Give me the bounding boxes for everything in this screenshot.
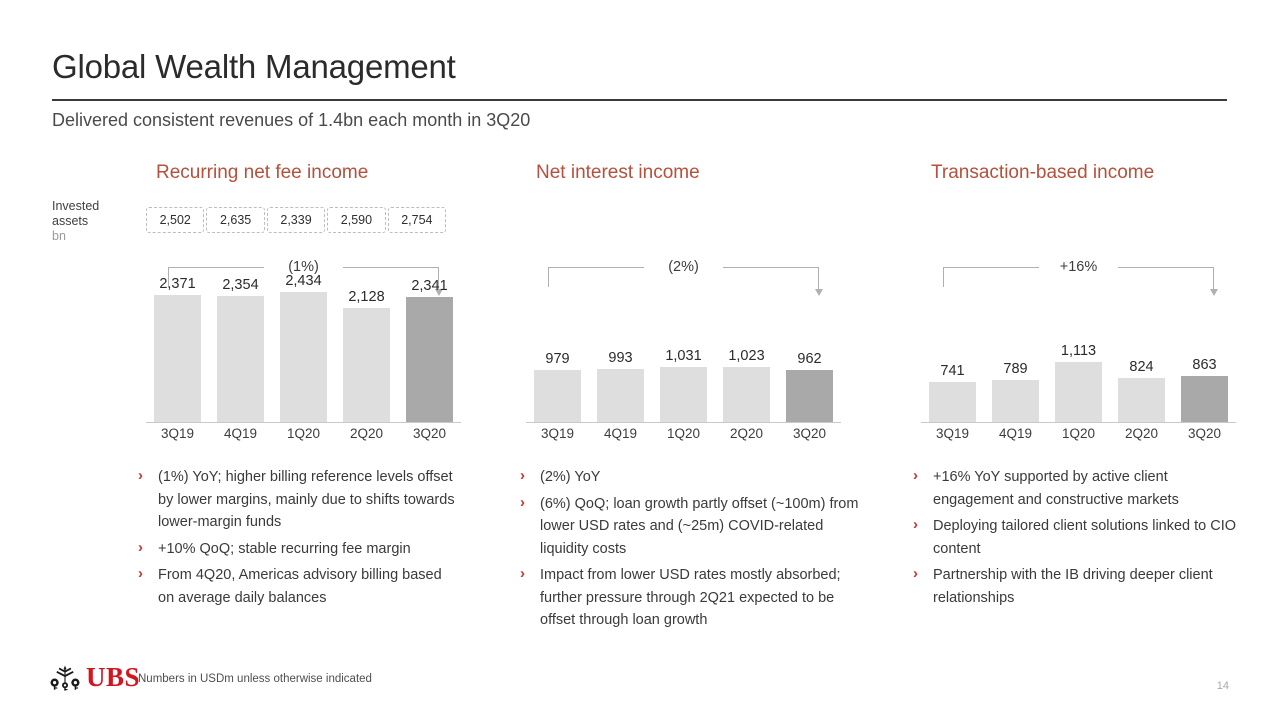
bullet-list-net-interest-income: ›(2%) YoY›(6%) QoQ; loan growth partly o… [520, 466, 860, 636]
x-axis-line [921, 422, 1236, 423]
bar-value-label: 2,434 [272, 272, 335, 290]
bar-value-label: 1,031 [652, 347, 715, 365]
bullet-item: ›+16% YoY supported by active client eng… [913, 466, 1238, 511]
bar-item: 2,371 [146, 272, 209, 422]
x-axis-tick-label: 4Q19 [589, 424, 652, 444]
bullet-item: ›(2%) YoY [520, 466, 860, 489]
invested-assets-unit: bn [52, 229, 142, 244]
x-axis-tick-label: 2Q20 [335, 424, 398, 444]
invested-assets-value: 2,502 [146, 207, 204, 233]
invested-assets-label: Invested assets bn [52, 199, 142, 244]
bullet-item: ›Deploying tailored client solutions lin… [913, 515, 1238, 560]
chevron-right-icon: › [138, 465, 143, 488]
bar-item: 993 [589, 272, 652, 422]
bar-value-label: 863 [1173, 356, 1236, 374]
chart-plot-area: (2%)9799931,0311,0239623Q194Q191Q202Q203… [526, 258, 841, 444]
bar-series: 7417891,113824863 [921, 272, 1236, 422]
bullet-text: Impact from lower USD rates mostly absor… [540, 567, 841, 628]
bar [534, 370, 582, 422]
chart-net-interest-income: (2%)9799931,0311,0239623Q194Q191Q202Q203… [526, 258, 841, 444]
bar-item: 741 [921, 272, 984, 422]
x-axis-tick-label: 3Q19 [921, 424, 984, 444]
bar-value-label: 2,371 [146, 275, 209, 293]
chart-heading-recurring-net-fee-income: Recurring net fee income [156, 162, 368, 184]
x-axis-tick-label: 1Q20 [272, 424, 335, 444]
x-axis-line [526, 422, 841, 423]
chart-plot-area: +16%7417891,1138248633Q194Q191Q202Q203Q2… [921, 258, 1236, 444]
bar [660, 367, 708, 422]
bar [723, 367, 771, 422]
bar-item: 824 [1110, 272, 1173, 422]
bar-value-label: 824 [1110, 358, 1173, 376]
bar-series: 9799931,0311,023962 [526, 272, 841, 422]
chevron-right-icon: › [913, 465, 918, 488]
bar [992, 380, 1040, 422]
bullet-text: From 4Q20, Americas advisory billing bas… [158, 567, 442, 606]
x-axis-line [146, 422, 461, 423]
bullet-item: ›Impact from lower USD rates mostly abso… [520, 564, 860, 632]
bar [1181, 376, 1229, 422]
page-subtitle: Delivered consistent revenues of 1.4bn e… [52, 110, 530, 131]
bar [597, 369, 645, 422]
bar [929, 382, 977, 422]
bar-value-label: 962 [778, 350, 841, 368]
footnote: Numbers in USDm unless otherwise indicat… [138, 673, 372, 685]
bullet-text: Partnership with the IB driving deeper c… [933, 567, 1213, 606]
chevron-right-icon: › [138, 563, 143, 586]
x-axis-tick-label: 3Q20 [778, 424, 841, 444]
ubs-wordmark: UBS [86, 664, 140, 691]
bar-item: 789 [984, 272, 1047, 422]
bullet-text: (1%) YoY; higher billing reference level… [158, 469, 455, 530]
bar-item: 1,031 [652, 272, 715, 422]
bar [1055, 362, 1103, 422]
chart-heading-transaction-based-income: Transaction-based income [931, 162, 1154, 184]
bar [280, 292, 328, 422]
bar-item: 2,128 [335, 272, 398, 422]
bullet-text: Deploying tailored client solutions link… [933, 518, 1236, 557]
x-axis-tick-label: 3Q19 [526, 424, 589, 444]
invested-assets-value: 2,590 [327, 207, 385, 233]
bullet-text: (2%) YoY [540, 469, 600, 485]
bullet-list-transaction-based-income: ›+16% YoY supported by active client eng… [913, 466, 1238, 613]
bar [217, 296, 265, 422]
bar-item: 2,434 [272, 272, 335, 422]
bar [343, 308, 391, 422]
x-axis-tick-label: 3Q20 [398, 424, 461, 444]
chart-recurring-net-fee-income: (1%)2,3712,3542,4342,1282,3413Q194Q191Q2… [146, 258, 461, 444]
chevron-right-icon: › [520, 492, 525, 515]
bullet-text: (6%) QoQ; loan growth partly offset (~10… [540, 496, 858, 557]
x-axis-labels: 3Q194Q191Q202Q203Q20 [146, 424, 461, 444]
x-axis-tick-label: 3Q19 [146, 424, 209, 444]
bullet-text: +10% QoQ; stable recurring fee margin [158, 541, 411, 557]
invested-assets-values: 2,5022,6352,3392,5902,754 [146, 207, 446, 233]
x-axis-tick-label: 3Q20 [1173, 424, 1236, 444]
bar-value-label: 789 [984, 360, 1047, 378]
page-number: 14 [1217, 680, 1229, 692]
chart-plot-area: (1%)2,3712,3542,4342,1282,3413Q194Q191Q2… [146, 258, 461, 444]
x-axis-tick-label: 4Q19 [984, 424, 1047, 444]
bar [1118, 378, 1166, 422]
bar-value-label: 1,023 [715, 347, 778, 365]
bar-value-label: 2,354 [209, 276, 272, 294]
ubs-keys-icon [48, 665, 82, 691]
title-divider [52, 99, 1227, 101]
bar-value-label: 1,113 [1047, 342, 1110, 360]
bullet-item: ›From 4Q20, Americas advisory billing ba… [138, 564, 458, 609]
chevron-right-icon: › [138, 537, 143, 560]
bullet-item: ›Partnership with the IB driving deeper … [913, 564, 1238, 609]
bar [786, 370, 834, 422]
bar-value-label: 979 [526, 350, 589, 368]
bullet-text: +16% YoY supported by active client enga… [933, 469, 1179, 508]
chevron-right-icon: › [520, 563, 525, 586]
x-axis-tick-label: 1Q20 [1047, 424, 1110, 444]
bar-item: 2,354 [209, 272, 272, 422]
invested-assets-value: 2,635 [206, 207, 264, 233]
bar-value-label: 993 [589, 349, 652, 367]
x-axis-tick-label: 2Q20 [1110, 424, 1173, 444]
bar-item: 979 [526, 272, 589, 422]
bar-value-label: 2,128 [335, 288, 398, 306]
x-axis-tick-label: 4Q19 [209, 424, 272, 444]
bar-value-label: 741 [921, 362, 984, 380]
invested-assets-value: 2,339 [267, 207, 325, 233]
chart-transaction-based-income: +16%7417891,1138248633Q194Q191Q202Q203Q2… [921, 258, 1236, 444]
x-axis-labels: 3Q194Q191Q202Q203Q20 [526, 424, 841, 444]
page-title: Global Wealth Management [52, 48, 456, 86]
bullet-item: ›+10% QoQ; stable recurring fee margin [138, 538, 458, 561]
bullet-item: ›(6%) QoQ; loan growth partly offset (~1… [520, 493, 860, 561]
bar [406, 297, 454, 422]
x-axis-tick-label: 2Q20 [715, 424, 778, 444]
x-axis-tick-label: 1Q20 [652, 424, 715, 444]
chevron-right-icon: › [520, 465, 525, 488]
bar-item: 1,113 [1047, 272, 1110, 422]
bar-series: 2,3712,3542,4342,1282,341 [146, 272, 461, 422]
bar-item: 1,023 [715, 272, 778, 422]
invested-assets-label-line2: assets [52, 214, 142, 229]
chevron-right-icon: › [913, 514, 918, 537]
bar-item: 962 [778, 272, 841, 422]
bar-value-label: 2,341 [398, 277, 461, 295]
x-axis-labels: 3Q194Q191Q202Q203Q20 [921, 424, 1236, 444]
bar [154, 295, 202, 422]
invested-assets-value: 2,754 [388, 207, 446, 233]
chart-heading-net-interest-income: Net interest income [536, 162, 700, 184]
bullet-item: ›(1%) YoY; higher billing reference leve… [138, 466, 458, 534]
ubs-logo: UBS [48, 664, 140, 691]
bar-item: 863 [1173, 272, 1236, 422]
bar-item: 2,341 [398, 272, 461, 422]
invested-assets-label-line1: Invested [52, 199, 142, 214]
chevron-right-icon: › [913, 563, 918, 586]
bullet-list-recurring-net-fee-income: ›(1%) YoY; higher billing reference leve… [138, 466, 458, 613]
